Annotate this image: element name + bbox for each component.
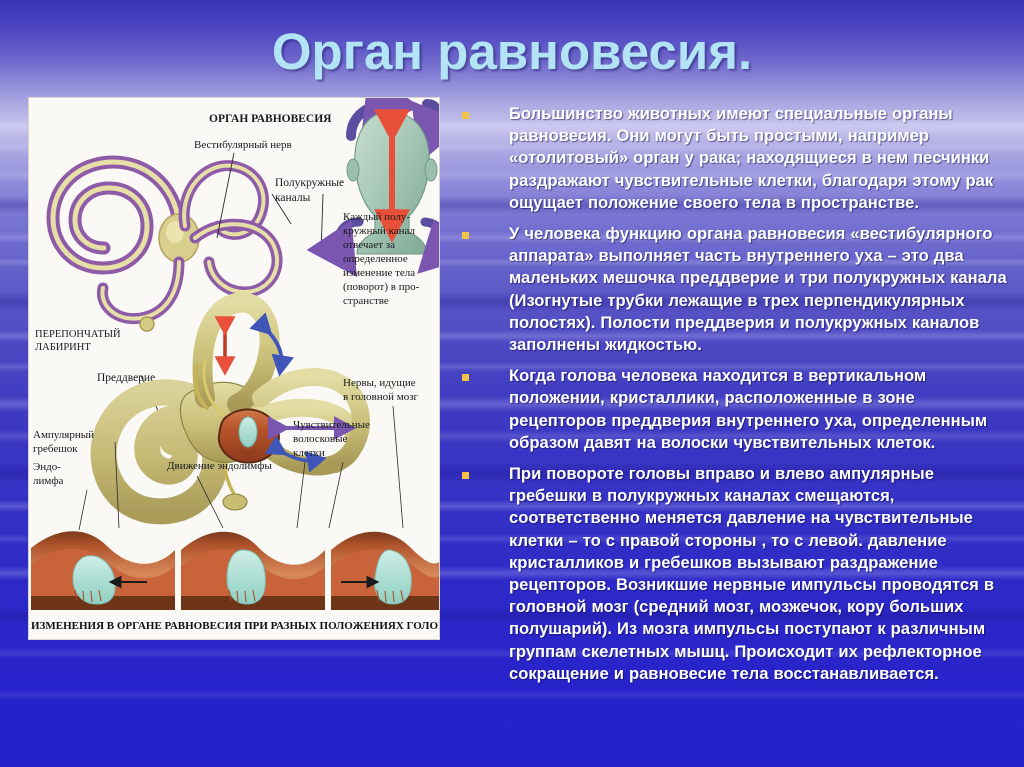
figure-caption: ИЗМЕНЕНИЯ В ОРГАНЕ РАВНОВЕСИЯ ПРИ РАЗНЫХ… [31,620,440,632]
svg-text:Нервы, идущие: Нервы, идущие [343,377,416,389]
list-item: Когда голова человека находится в вертик… [462,365,1010,454]
svg-text:Каждый полу-: Каждый полу- [343,211,411,223]
svg-text:волосковые: волосковые [293,433,347,445]
list-item: При повороте головы вправо и влево ампул… [462,463,1010,685]
label-membranous-labyrinth-line2: ЛАБИРИНТ [35,342,91,353]
bullet-text: При повороте головы вправо и влево ампул… [509,463,1010,685]
svg-text:(поворот) в про-: (поворот) в про- [343,281,420,293]
slide-title: Орган равновесия. [0,22,1024,81]
ampulla-states-row [31,531,439,610]
figure-heading: ОРГАН РАВНОВЕСИЯ [209,113,332,125]
list-item: У человека функцию органа равновесия «ве… [462,223,1010,356]
bullet-text: Когда голова человека находится в вертик… [509,365,1010,454]
svg-text:в головной мозг: в головной мозг [343,391,419,403]
label-vestibular-nerve: Вестибулярный нерв [194,139,292,151]
svg-text:Эндо-: Эндо- [33,461,61,473]
svg-text:определенное: определенное [343,253,408,265]
svg-text:Чувствительные: Чувствительные [293,419,370,431]
svg-text:странстве: странстве [343,295,389,307]
svg-text:отвечает за: отвечает за [343,239,395,251]
label-endolymph-movement: Движение эндолимфы [167,460,272,472]
bullet-marker-icon [462,472,469,479]
svg-text:кружный канал: кружный канал [343,225,415,237]
svg-text:гребешок: гребешок [33,443,78,455]
bullet-marker-icon [462,112,469,119]
svg-text:изменение тела: изменение тела [343,267,415,279]
svg-text:Ампулярный: Ампулярный [33,429,94,441]
svg-text:клетки: клетки [293,447,325,459]
cupula [239,417,257,447]
bullet-list: Большинство животных имеют специальные о… [462,103,1010,694]
list-item: Большинство животных имеют специальные о… [462,103,1010,214]
bullet-text: У человека функцию органа равновесия «ве… [509,223,1010,356]
svg-text:лимфа: лимфа [33,475,63,487]
slide-canvas: Орган равновесия. [0,0,1024,767]
anatomy-figure-panel: ОРГАН РАВНОВЕСИЯ Вестибулярный нерв ПЕРЕ… [28,97,440,640]
label-membranous-labyrinth-line1: ПЕРЕПОНЧАТЫЙ [35,328,121,340]
label-semicircular-canals-line2: каналы [275,192,311,204]
bullet-marker-icon [462,232,469,239]
bullet-text: Большинство животных имеют специальные о… [509,103,1010,214]
label-semicircular-canals-line1: Полукружные [275,177,344,189]
bullet-marker-icon [462,374,469,381]
